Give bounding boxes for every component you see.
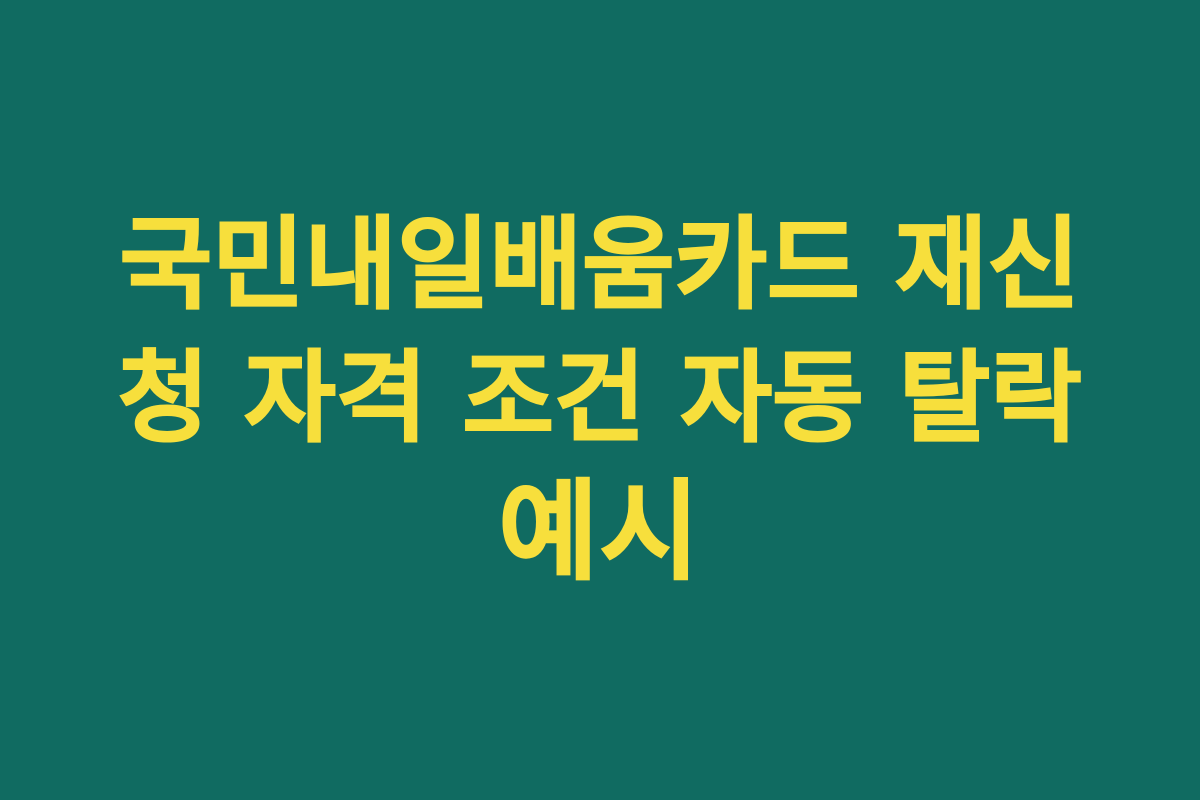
title-line-3: 예시 [499,466,702,600]
title-line-2: 청 자격 조건 자동 탈락 [118,332,1082,466]
title-line-1: 국민내일배움카드 재신 [120,198,1080,332]
thumbnail-card: 국민내일배움카드 재신 청 자격 조건 자동 탈락 예시 [0,0,1200,800]
title-text-block: 국민내일배움카드 재신 청 자격 조건 자동 탈락 예시 [100,198,1100,600]
